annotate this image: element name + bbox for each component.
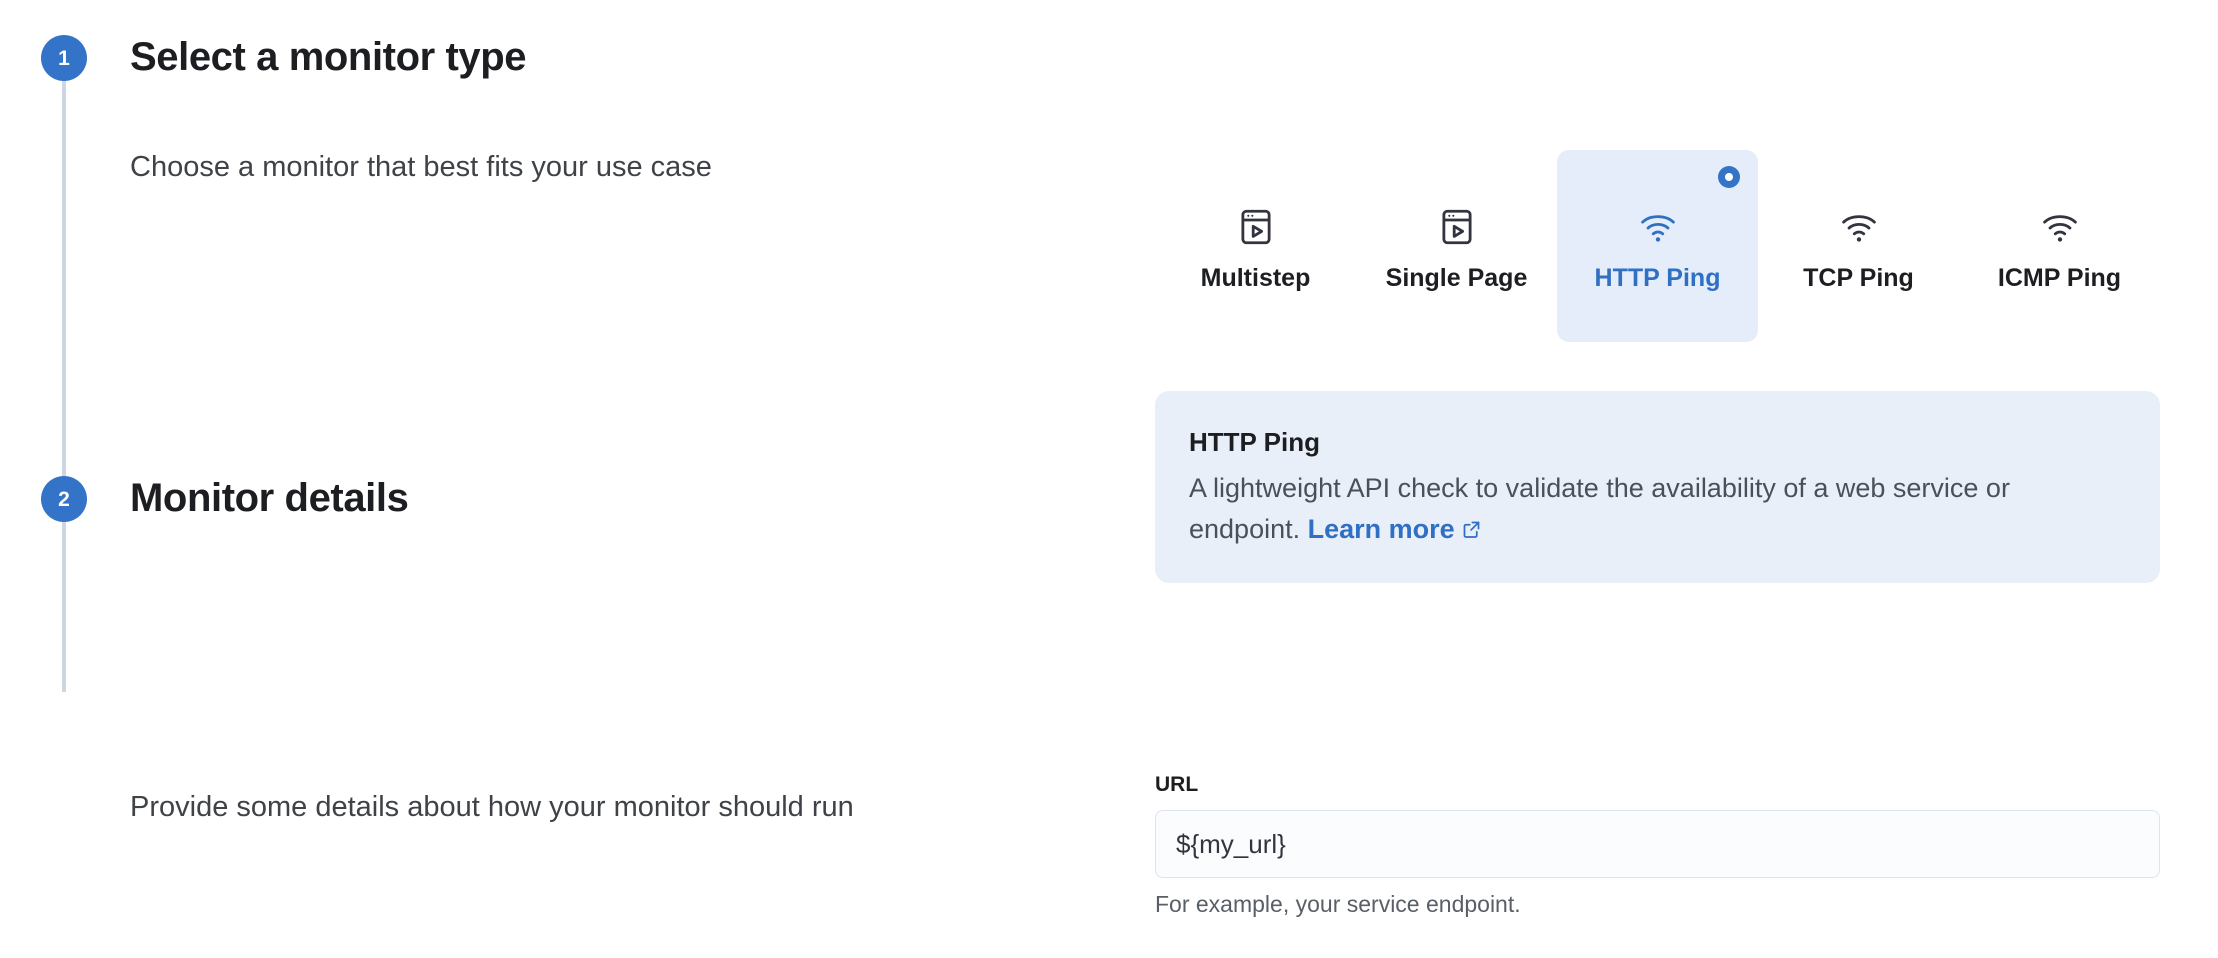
url-field-label: URL: [1155, 773, 2160, 797]
monitor-type-option-icmp-ping[interactable]: ICMP Ping: [1959, 150, 2160, 342]
browser-play-icon: [1235, 206, 1277, 248]
monitor-type-label: TCP Ping: [1803, 264, 1914, 293]
monitor-type-label: HTTP Ping: [1595, 264, 1721, 293]
monitor-type-info-panel: HTTP Ping A lightweight API check to val…: [1155, 391, 2160, 583]
monitor-type-label: Single Page: [1386, 264, 1528, 293]
step-badge-1: 1: [41, 35, 87, 81]
monitor-type-option-tcp-ping[interactable]: TCP Ping: [1758, 150, 1959, 342]
monitor-type-label: Multistep: [1201, 264, 1311, 293]
browser-play-icon: [1436, 206, 1478, 248]
url-input[interactable]: [1155, 810, 2160, 878]
monitor-type-selector: Multistep Single Page: [1155, 150, 2160, 342]
step-number-1: 1: [58, 48, 70, 69]
stepper-connector-line: [62, 72, 66, 692]
monitor-type-option-http-ping[interactable]: HTTP Ping: [1557, 150, 1758, 342]
external-link-icon[interactable]: [1461, 511, 1482, 532]
wifi-icon: [2039, 206, 2081, 248]
section-subtitle-monitor-details: Provide some details about how your moni…: [130, 791, 854, 824]
wifi-icon: [1637, 206, 1679, 248]
url-field-block: URL For example, your service endpoint.: [1155, 773, 2160, 918]
url-field-help-text: For example, your service endpoint.: [1155, 891, 2160, 918]
section-title-monitor-type: Select a monitor type: [130, 35, 526, 80]
learn-more-link[interactable]: Learn more: [1308, 514, 1455, 544]
create-monitor-page: 1 Select a monitor type Choose a monitor…: [0, 0, 2218, 958]
info-panel-description-wrapper: A lightweight API check to validate the …: [1189, 468, 2119, 550]
step-badge-2: 2: [41, 476, 87, 522]
info-panel-title: HTTP Ping: [1189, 427, 2126, 458]
section-subtitle-monitor-type: Choose a monitor that best fits your use…: [130, 151, 712, 184]
monitor-type-option-multistep[interactable]: Multistep: [1155, 150, 1356, 342]
monitor-type-option-single-page[interactable]: Single Page: [1356, 150, 1557, 342]
section-title-monitor-details: Monitor details: [130, 476, 408, 521]
monitor-type-label: ICMP Ping: [1998, 264, 2121, 293]
step-number-2: 2: [58, 489, 70, 510]
wifi-icon: [1838, 206, 1880, 248]
radio-selected-icon[interactable]: [1718, 166, 1740, 188]
